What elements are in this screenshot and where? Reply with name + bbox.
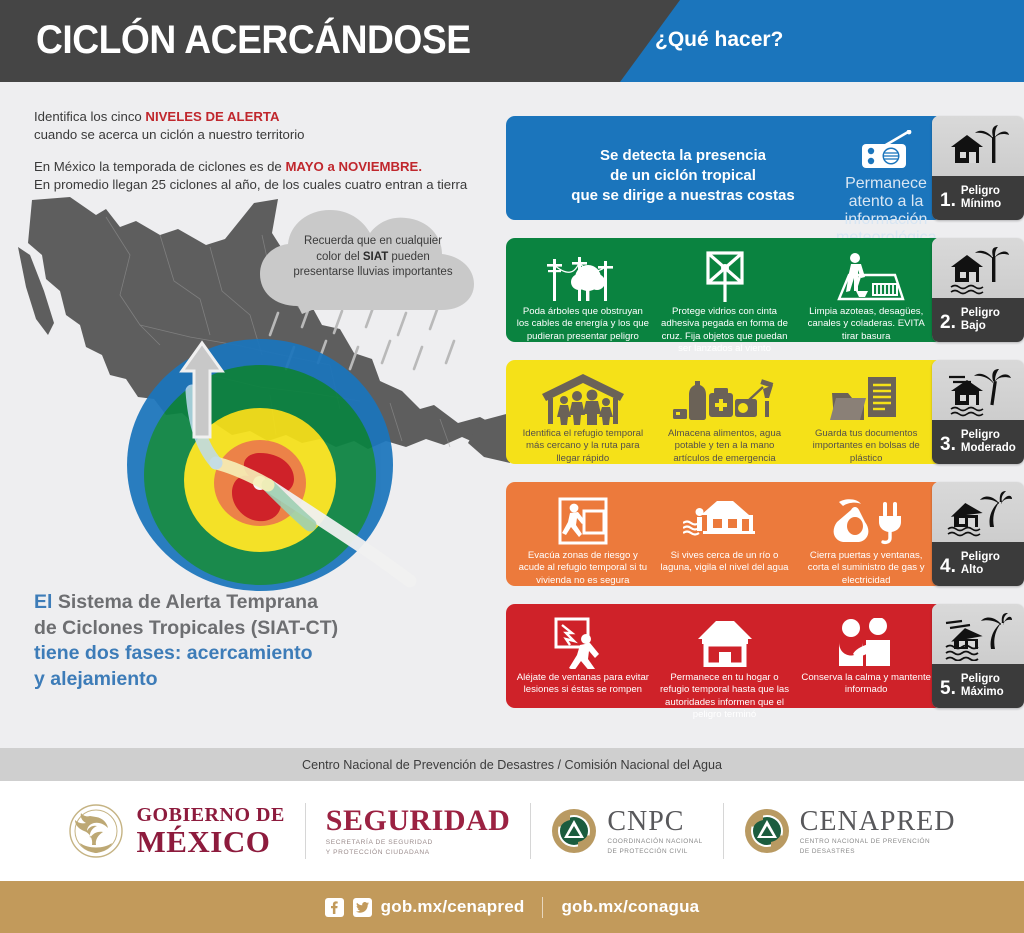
level-4-danger-text: PeligroAlto: [961, 551, 1000, 577]
level-5-action-2: Permanece en tu hogar o refugio temporal…: [654, 614, 796, 722]
level-5-badge[interactable]: 5. PeligroMáximo: [932, 604, 1024, 708]
house-shelter-icon: [658, 614, 792, 672]
mexico-seal-icon: [68, 803, 124, 859]
level-4-action-2: Si vives cerca de un río o laguna, vigil…: [654, 492, 796, 587]
social-bar: gob.mx/cenapred gob.mx/conagua: [0, 881, 1024, 933]
intro-line3-highlight: MAYO a NOVIEMBRE.: [285, 159, 422, 174]
alert-level-row[interactable]: Poda árboles que obstruyan los cables de…: [506, 238, 1024, 360]
hut-palm-waves-icon: [932, 242, 1024, 300]
level-1-action-caption: Permanece atento a la información meteor…: [836, 175, 936, 247]
intro-paragraph-2: En México la temporada de ciclones es de…: [34, 158, 494, 193]
damaged-hut-waves-icon: [932, 486, 1024, 544]
level-5-actions: Aléjate de ventanas para evitar lesiones…: [512, 614, 937, 722]
siat-line-4: y alejamiento: [34, 667, 454, 693]
intro-paragraph-1: Identifica los cinco NIVELES DE ALERTA c…: [34, 108, 494, 143]
level-2-badge[interactable]: 2. PeligroBajo: [932, 238, 1024, 342]
level-1-danger-text: PeligroMínimo: [961, 185, 1001, 211]
cloud-line-2-c: pueden: [388, 251, 430, 263]
cnpc-text: CNPC COORDINACIÓN NACIONAL DE PROTECCIÓN…: [607, 807, 702, 856]
page-header: CICLÓN ACERCÁNDOSE ¿Qué hacer?: [0, 0, 1024, 82]
level-4-panel[interactable]: Evacúa zonas de riesgo y acude al refugi…: [506, 482, 943, 586]
level-3-action-2: Almacena alimentos, agua potable y ten a…: [654, 370, 796, 465]
gobierno-line2: MÉXICO: [136, 826, 284, 857]
level-2-action-1-caption: Poda árboles que obstruyan los cables de…: [516, 306, 650, 343]
siat-line-1: El Sistema de Alerta Temprana: [34, 590, 454, 616]
level-5-danger-text: PeligroMáximo: [961, 673, 1004, 699]
seguridad-sub1: SECRETARÍA DE SEGURIDAD: [326, 839, 511, 847]
level-3-badge[interactable]: 3. PeligroModerado: [932, 360, 1024, 464]
cenapred-sub1: CENTRO NACIONAL DE PREVENCIÓN: [800, 838, 956, 846]
level-1-message-line-1: Se detecta la presencia: [600, 147, 766, 164]
radio-icon: [836, 130, 936, 175]
cenapred-sub2: DE DESASTRES: [800, 848, 956, 856]
level-4-action-1: Evacúa zonas de riesgo y acude al refugi…: [512, 492, 654, 587]
credit-text: Centro Nacional de Prevención de Desastr…: [302, 758, 722, 772]
level-5-action-3: Conserva la calma y mantente informado: [795, 614, 937, 722]
level-4-number: 4.: [940, 552, 956, 576]
level-4-action-3: Cierra puertas y ventanas, corta el sumi…: [795, 492, 937, 587]
gobierno-text: GOBIERNO DE MÉXICO: [136, 805, 284, 857]
level-5-number: 5.: [940, 674, 956, 698]
gobierno-logo: GOBIERNO DE MÉXICO: [48, 800, 304, 862]
intro-line1-highlight: NIVELES DE ALERTA: [145, 109, 279, 124]
level-3-action-3: Guarda tus documentos importantes en bol…: [795, 370, 937, 465]
siat-line1-grey: Sistema de Alerta Temprana: [58, 591, 318, 613]
documents-folder-icon: [799, 370, 933, 428]
evacuation-exit-icon: [516, 492, 650, 550]
credit-bar: Centro Nacional de Prevención de Desastr…: [0, 748, 1024, 781]
level-5-action-1-caption: Aléjate de ventanas para evitar lesiones…: [516, 672, 650, 697]
cloud-line-1: Recuerda que en cualquier: [304, 235, 442, 247]
conagua-link[interactable]: gob.mx/conagua: [561, 897, 699, 917]
intro-line3-a: En México la temporada de ciclones es de: [34, 159, 285, 174]
level-1-message-line-3: que se dirige a nuestras costas: [571, 187, 794, 204]
cloud-line-3: presentarse lluvias importantes: [293, 266, 452, 278]
level-1-badge[interactable]: 1. PeligroMínimo: [932, 116, 1024, 220]
level-3-action-1-caption: Identifica el refugio temporal más cerca…: [516, 428, 650, 465]
cnpc-main: CNPC: [607, 807, 702, 836]
level-2-actions: Poda árboles que obstruyan los cables de…: [512, 248, 937, 356]
cenapred-link[interactable]: gob.mx/cenapred: [381, 897, 525, 917]
logo-bar: GOBIERNO DE MÉXICO SEGURIDAD SECRETARÍA …: [0, 781, 1024, 881]
alert-levels-list: Se detecta la presencia de un ciclón tro…: [506, 116, 1024, 726]
broken-window-run-icon: [516, 614, 650, 672]
siat-line-3: tiene dos fases: acercamiento: [34, 641, 454, 667]
level-1-message-line-2: de un ciclón tropical: [610, 167, 756, 184]
gobierno-line1: GOBIERNO DE: [136, 805, 284, 826]
hut-palm-icon: [932, 120, 1024, 178]
cloud-line-2-a: color del: [316, 251, 363, 263]
intro-line2: cuando se acerca un ciclón a nuestro ter…: [34, 127, 305, 142]
level-2-label: 2. PeligroBajo: [932, 298, 1024, 342]
alert-level-row[interactable]: Evacúa zonas de riesgo y acude al refugi…: [506, 482, 1024, 604]
infographic-page: CICLÓN ACERCÁNDOSE ¿Qué hacer? Identific…: [0, 0, 1024, 933]
level-4-action-1-caption: Evacúa zonas de riesgo y acude al refugi…: [516, 550, 650, 587]
level-1-panel[interactable]: Se detecta la presencia de un ciclón tro…: [506, 116, 943, 220]
intro-line1-a: Identifica los cinco: [34, 109, 145, 124]
level-2-action-2: Protege vidrios con cinta adhesiva pegad…: [654, 248, 796, 356]
level-1-action: Permanece atento a la información meteor…: [836, 130, 936, 247]
cenapred-text: CENAPRED CENTRO NACIONAL DE PREVENCIÓN D…: [800, 807, 956, 856]
level-3-panel[interactable]: Identifica el refugio temporal más cerca…: [506, 360, 943, 464]
intro-line4: En promedio llegan 25 ciclones al año, d…: [34, 177, 467, 192]
level-3-danger-text: PeligroModerado: [961, 429, 1016, 455]
house-river-icon: [658, 492, 792, 550]
level-4-actions: Evacúa zonas de riesgo y acude al refugi…: [512, 492, 937, 587]
level-2-action-2-caption: Protege vidrios con cinta adhesiva pegad…: [658, 306, 792, 356]
level-4-action-3-caption: Cierra puertas y ventanas, corta el sumi…: [799, 550, 933, 587]
hut-palm-wind-waves-icon: [932, 364, 1024, 422]
level-2-action-3-caption: Limpia azoteas, desagües, canales y cola…: [799, 306, 933, 343]
power-lines-tree-icon: [516, 248, 650, 306]
level-4-badge[interactable]: 4. PeligroAlto: [932, 482, 1024, 586]
cenapred-seal-icon: [744, 808, 790, 854]
taped-window-icon: [658, 248, 792, 306]
proteccion-civil-icon: [551, 808, 597, 854]
level-2-danger-text: PeligroBajo: [961, 307, 1000, 333]
level-1-number: 1.: [940, 186, 956, 210]
social-divider: [542, 897, 543, 918]
level-3-action-3-caption: Guarda tus documentos importantes en bol…: [799, 428, 933, 465]
level-3-action-1: Identifica el refugio temporal más cerca…: [512, 370, 654, 465]
level-5-panel[interactable]: Aléjate de ventanas para evitar lesiones…: [506, 604, 943, 708]
level-2-action-1: Poda árboles que obstruyan los cables de…: [512, 248, 654, 356]
family-shelter-icon: [516, 370, 650, 428]
level-5-action-3-caption: Conserva la calma y mantente informado: [799, 672, 933, 697]
two-people-icon: [799, 614, 933, 672]
alert-level-row[interactable]: Identifica el refugio temporal más cerca…: [506, 360, 1024, 482]
level-3-number: 3.: [940, 430, 956, 454]
cenapred-logo: CENAPRED CENTRO NACIONAL DE PREVENCIÓN D…: [724, 800, 976, 862]
seguridad-logo: SEGURIDAD SECRETARÍA DE SEGURIDAD Y PROT…: [306, 800, 531, 862]
gas-electricity-icon: [799, 492, 933, 550]
level-3-action-2-caption: Almacena alimentos, agua potable y ten a…: [658, 428, 792, 465]
sweeping-roof-icon: [799, 248, 933, 306]
alert-level-row[interactable]: Aléjate de ventanas para evitar lesiones…: [506, 604, 1024, 726]
seguridad-text: SEGURIDAD SECRETARÍA DE SEGURIDAD Y PROT…: [326, 805, 511, 858]
level-2-number: 2.: [940, 308, 956, 332]
intro-text-block: Identifica los cinco NIVELES DE ALERTA c…: [34, 108, 494, 193]
level-4-action-2-caption: Si vives cerca de un río o laguna, vigil…: [658, 550, 792, 575]
cnpc-sub2: DE PROTECCIÓN CIVIL: [607, 848, 702, 856]
level-3-actions: Identifica el refugio temporal más cerca…: [512, 370, 937, 465]
level-5-label: 5. PeligroMáximo: [932, 664, 1024, 708]
cenapred-main: CENAPRED: [800, 807, 956, 836]
supplies-kit-icon: [658, 370, 792, 428]
flooded-hut-icon: [932, 608, 1024, 666]
cloud-callout-text: Recuerda que en cualquier color del SIAT…: [258, 234, 488, 281]
level-5-action-1: Aléjate de ventanas para evitar lesiones…: [512, 614, 654, 722]
level-1-message: Se detecta la presencia de un ciclón tro…: [528, 146, 838, 206]
siat-line-2: de Ciclones Tropicales (SIAT-CT): [34, 616, 454, 642]
cloud-siat-label: SIAT: [363, 251, 388, 263]
cnpc-sub1: COORDINACIÓN NACIONAL: [607, 838, 702, 846]
level-2-action-3: Limpia azoteas, desagües, canales y cola…: [795, 248, 937, 356]
page-title: CICLÓN ACERCÁNDOSE: [36, 18, 471, 63]
cnpc-logo: CNPC COORDINACIÓN NACIONAL DE PROTECCIÓN…: [531, 800, 722, 862]
seguridad-sub2: Y PROTECCIÓN CIUDADANA: [326, 849, 511, 857]
siat-description-block: El Sistema de Alerta Temprana de Ciclone…: [34, 590, 454, 692]
level-2-panel[interactable]: Poda árboles que obstruyan los cables de…: [506, 238, 943, 342]
level-4-label: 4. PeligroAlto: [932, 542, 1024, 586]
facebook-icon[interactable]: [325, 898, 344, 917]
level-1-label: 1. PeligroMínimo: [932, 176, 1024, 220]
siat-line1-blue: El: [34, 591, 58, 613]
twitter-icon[interactable]: [353, 898, 372, 917]
header-subtitle: ¿Qué hacer?: [655, 28, 783, 52]
alert-level-row[interactable]: Se detecta la presencia de un ciclón tro…: [506, 116, 1024, 238]
level-5-action-2-caption: Permanece en tu hogar o refugio temporal…: [658, 672, 792, 722]
seguridad-main: SEGURIDAD: [326, 805, 511, 837]
level-3-label: 3. PeligroModerado: [932, 420, 1024, 464]
